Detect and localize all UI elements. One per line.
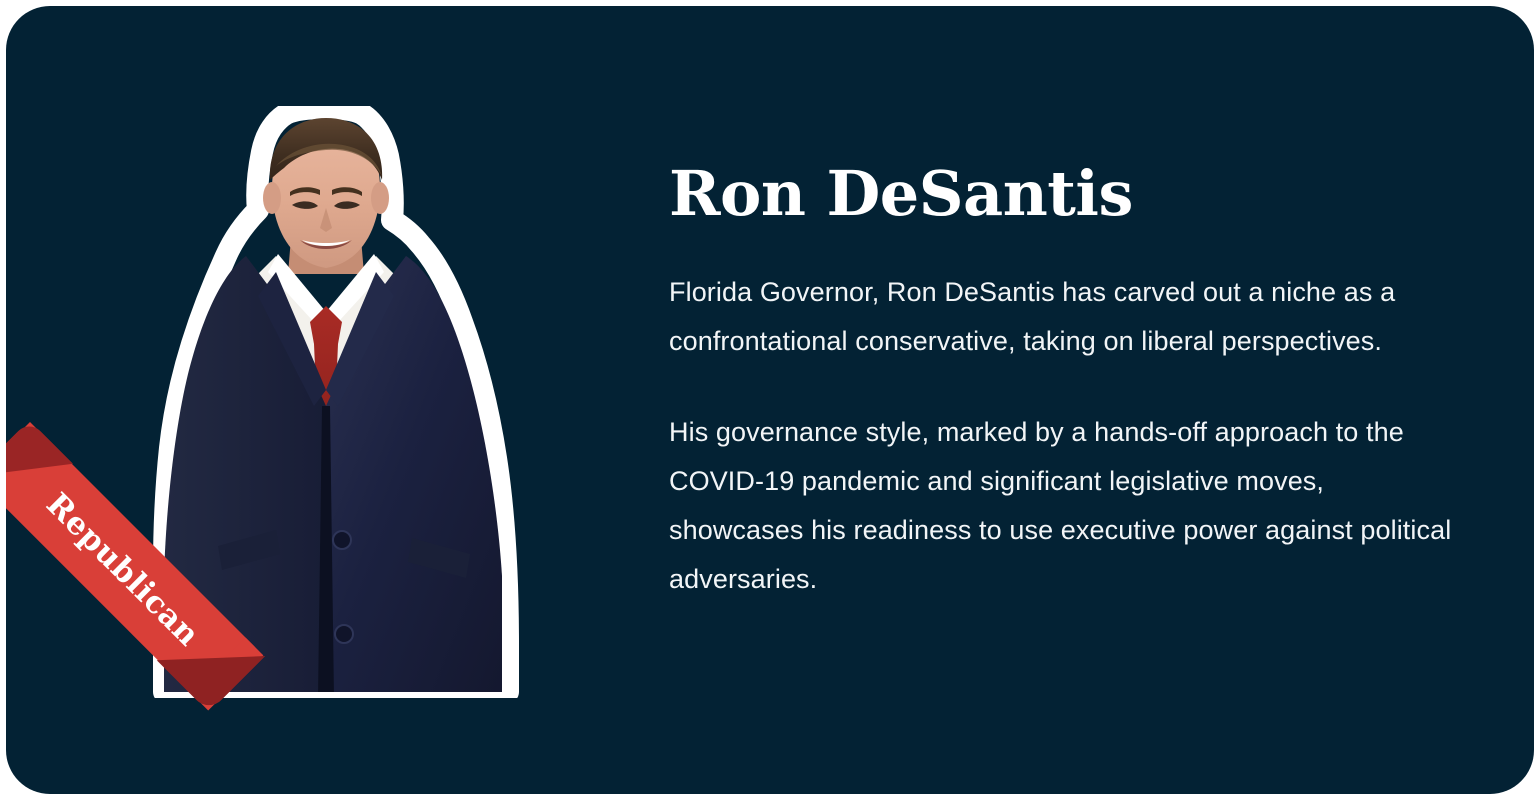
page-title: Ron DeSantis: [669, 156, 1459, 232]
profile-text-column: Ron DeSantis Florida Governor, Ron DeSan…: [669, 156, 1459, 604]
portrait-block: Republican: [86, 92, 566, 712]
bio-paragraph-2: His governance style, marked by a hands-…: [669, 408, 1459, 604]
bio-paragraph-1: Florida Governor, Ron DeSantis has carve…: [669, 268, 1459, 366]
profile-card: Republican Ron DeSantis Florida Governor…: [6, 6, 1534, 794]
